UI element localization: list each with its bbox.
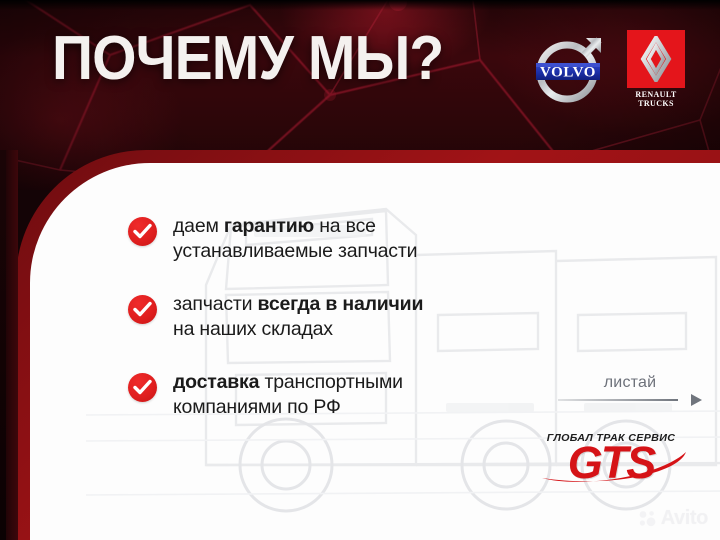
list-item-text: доставка транспортными компаниями по РФ xyxy=(173,370,403,420)
avito-watermark: Avito xyxy=(639,507,708,530)
swipe-label: листай xyxy=(570,374,690,392)
bullet-prefix: запчасти xyxy=(173,293,258,315)
gts-wordmark: GTS xyxy=(532,442,690,484)
brand-logos: VOLVO RENAULT xyxy=(532,30,686,108)
list-item-text: даем гарантию на все устанавливаемые зап… xyxy=(173,214,417,264)
left-trim xyxy=(0,150,6,540)
bullet-suffix: транспортными xyxy=(259,371,403,393)
volvo-wordmark: VOLVO xyxy=(540,65,596,81)
bullet-bold: гарантию xyxy=(224,215,314,237)
bullet-line2: на наших складах xyxy=(173,318,333,340)
list-item: запчасти всегда в наличии на наших склад… xyxy=(128,292,548,342)
renault-diamond-plate xyxy=(627,30,685,88)
renault-trucks-logo: RENAULT TRUCKS xyxy=(626,30,686,108)
avito-wordmark: Avito xyxy=(661,507,708,530)
bullet-prefix: даем xyxy=(173,215,224,237)
page-title: ПОЧЕМУ МЫ? xyxy=(52,28,443,90)
arrow-right-icon xyxy=(570,394,690,406)
gts-logo: ГЛОБАЛ ТРАК СЕРВИС GTS xyxy=(532,432,690,484)
bullet-bold: доставка xyxy=(173,371,259,393)
bullet-line2: устанавливаемые запчасти xyxy=(173,240,417,262)
check-circle-icon xyxy=(128,217,157,246)
swipe-hint[interactable]: листай xyxy=(570,374,690,406)
bullet-line2: компаниями по РФ xyxy=(173,396,341,418)
list-item: доставка транспортными компаниями по РФ xyxy=(128,370,548,420)
bullet-suffix: на все xyxy=(314,215,376,237)
renault-diamond-icon xyxy=(636,36,676,82)
check-circle-icon xyxy=(128,295,157,324)
benefits-list: даем гарантию на все устанавливаемые зап… xyxy=(128,214,548,420)
volvo-logo: VOLVO xyxy=(532,31,608,107)
advertising-slide: ПОЧЕМУ МЫ? xyxy=(0,0,720,540)
bullet-bold: всегда в наличии xyxy=(258,293,424,315)
check-circle-icon xyxy=(128,373,157,402)
list-item-text: запчасти всегда в наличии на наших склад… xyxy=(173,292,423,342)
renault-wordmark: RENAULT TRUCKS xyxy=(635,91,676,108)
list-item: даем гарантию на все устанавливаемые зап… xyxy=(128,214,548,264)
gts-tagline: ГЛОБАЛ ТРАК СЕРВИС xyxy=(530,432,691,444)
avito-dots-icon xyxy=(639,510,656,527)
